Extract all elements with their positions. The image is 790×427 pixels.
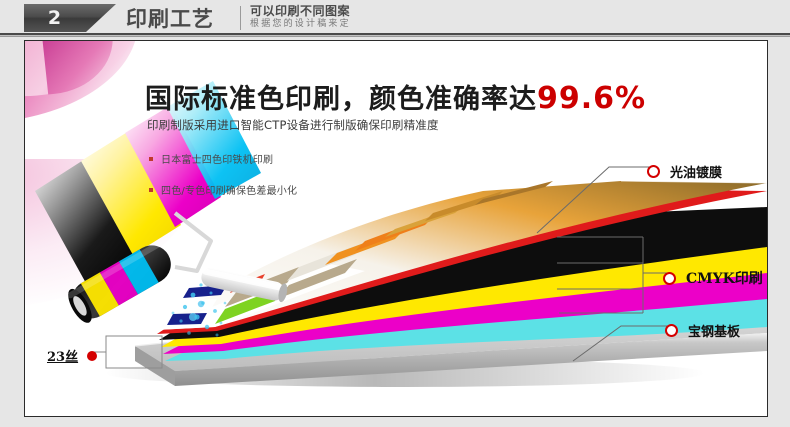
callout-base: 宝钢基板 [665,321,740,340]
ring-marker-icon [647,165,660,178]
bullet-text: 日本富士四色印铁机印刷 [161,151,273,166]
section-number: 2 [48,7,62,29]
header-rule [0,33,790,37]
callout-varnish: 光油镀膜 [647,162,722,181]
page-root: 2 印刷工艺 可以印刷不同图案 根据您的设计稿来定 [0,0,790,427]
header-subtitle-line2: 根据您的设计稿来定 [250,18,430,30]
headline-accent: 99.6% [537,81,646,116]
solid-dot-marker-icon [87,351,97,361]
ring-marker-icon [665,324,678,337]
callout-cmyk: CMYK印刷 [663,268,763,288]
header-divider [240,6,241,30]
callout-label-base: 宝钢基板 [688,321,740,340]
content-panel: 国际标准色印刷，颜色准确率达99.6% 印刷制版采用进口智能CTP设备进行制版确… [24,40,768,417]
headline-main: 国际标准色印刷，颜色准确率达 [145,84,537,115]
callout-label-cmyk: CMYK印刷 [686,268,763,288]
page-headline: 国际标准色印刷，颜色准确率达99.6% [145,77,646,116]
bullet-dot-icon [149,157,153,161]
bullet-text: 四色/专色印刷确保色差最小化 [161,182,297,197]
list-item: 日本富士四色印铁机印刷 [149,151,297,166]
header-title: 印刷工艺 [126,4,214,32]
callout-label-thickness: 23丝 [47,346,78,365]
section-number-badge: 2 [24,4,86,32]
page-subheadline: 印刷制版采用进口智能CTP设备进行制版确保印刷精准度 [147,117,439,133]
bullet-dot-icon [149,188,153,192]
header-subtitle: 可以印刷不同图案 根据您的设计稿来定 [250,4,430,32]
header-subtitle-line1: 可以印刷不同图案 [250,4,430,18]
callout-thickness: 23丝 [47,346,97,365]
callout-label-varnish: 光油镀膜 [670,162,722,181]
feature-bullet-list: 日本富士四色印铁机印刷 四色/专色印刷确保色差最小化 [149,151,297,213]
header-wedge-decoration [86,4,116,32]
list-item: 四色/专色印刷确保色差最小化 [149,182,297,197]
ring-marker-icon [663,272,676,285]
page-header: 2 印刷工艺 可以印刷不同图案 根据您的设计稿来定 [0,0,790,33]
